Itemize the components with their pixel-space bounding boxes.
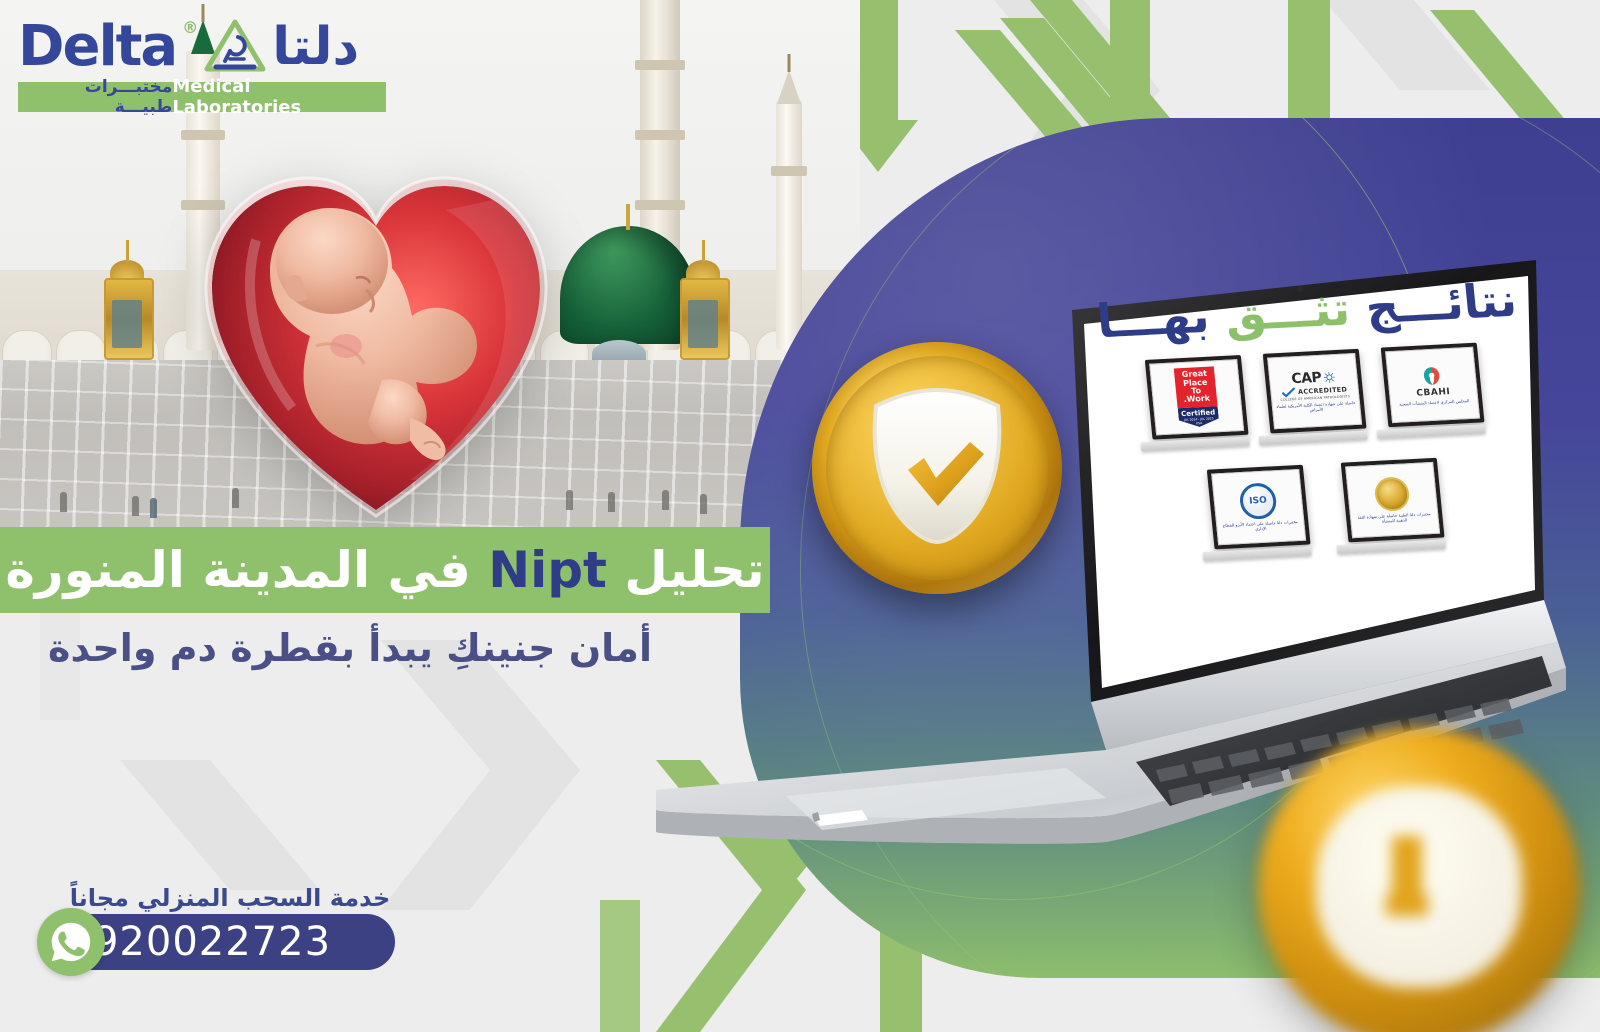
brand-tagline-en: Medical Laboratories [172, 76, 376, 118]
certificate-cbahi[interactable]: CBAHI المجلس المركزي لاعتماد المنشآت الص… [1381, 343, 1486, 439]
iso-label: ISO [1249, 496, 1267, 507]
certificates-row-1: CBAHI المجلس المركزي لاعتماد المنشآت الص… [1076, 339, 1555, 454]
whatsapp-icon[interactable] [37, 908, 105, 976]
iso-caption: مختبرات دلتا حاصلة على اعتماد الأيزو للق… [1217, 519, 1304, 533]
cap-caption: حاصلة على شهادة اعتماد الكلية الأمريكية … [1273, 400, 1360, 414]
iso-certified-icon: ISO [1238, 482, 1278, 520]
microscope-triangle-icon [204, 19, 266, 75]
trust-coin-secondary [1258, 728, 1580, 1032]
certificate-cap[interactable]: CAP ACCREDITED COLLEGE OF AMERICAN PATHO… [1263, 349, 1368, 445]
headline-prefix: تحليل [624, 541, 764, 599]
phone-number: 920022723 [93, 919, 367, 965]
cbahi-caption: المجلس المركزي لاعتماد المنشآت الصحية [1396, 398, 1473, 407]
certificate-iso[interactable]: ISO مختبرات دلتا حاصلة على اعتماد الأيزو… [1207, 465, 1312, 561]
subheadline: أمان جنينكِ يبدأ بقطرة دم واحدة [48, 629, 652, 667]
great-place-to-work-badge: Great Place To Work. Certified JUL 2024 … [1174, 367, 1220, 428]
gold-medal-caption: مختبرات دلتا الطبية حاصلة على شهادة الثق… [1351, 511, 1438, 525]
cap-label: CAP [1291, 370, 1322, 387]
brand-tagline-ar: مختبـــرات طبيـــة [28, 77, 172, 117]
brand-logo[interactable]: Delta ® دلتا Medical Laboratories مختبــ… [18, 14, 386, 112]
screen-headline-part-1: نتائـــج [1363, 273, 1519, 335]
cbahi-label: CBAHI [1416, 387, 1451, 399]
gold-medal-icon [1373, 476, 1410, 512]
screen-headline-part-2: تثـــق [1222, 281, 1352, 341]
service-label: خدمة السحب المنزلي مجاناً [65, 886, 395, 910]
cap-emblem-icon [1323, 371, 1336, 384]
screen-headline: نتائـــج تثـــق بهـــا [1070, 275, 1544, 345]
phone-pill[interactable]: 920022723 [65, 914, 395, 970]
advertisement-canvas: نتائـــج تثـــق بهـــا CBAHI المجلس المر… [0, 0, 1600, 1032]
trust-coin-primary [812, 342, 1062, 594]
certificates-row-2: مختبرات دلتا الطبية حاصلة على شهادة الثق… [1087, 451, 1566, 566]
headline-band: تحليل Nipt في المدينة المنورة [0, 527, 770, 613]
screen-headline-part-3: بهـــا [1094, 289, 1211, 349]
headline-accent: Nipt [488, 541, 607, 599]
brand-name-ar: دلتا [272, 21, 359, 73]
fetus-in-heart-illustration [196, 150, 556, 530]
certificate-gold-medal[interactable]: مختبرات دلتا الطبية حاصلة على شهادة الثق… [1341, 458, 1446, 554]
registered-mark-icon: ® [182, 18, 198, 37]
certificate-great-place-to-work[interactable]: Great Place To Work. Certified JUL 2024 … [1145, 355, 1250, 451]
subheadline-wrap: أمان جنينكِ يبدأ بقطرة دم واحدة [0, 618, 700, 678]
headline-suffix: في المدينة المنورة [5, 541, 470, 599]
contact-block: خدمة السحب المنزلي مجاناً 920022723 [30, 886, 430, 996]
laptop-screen-content: نتائـــج تثـــق بهـــا CBAHI المجلس المر… [1068, 259, 1576, 672]
gold-coin-shield-check-icon [864, 386, 1010, 546]
cbahi-logo-icon [1420, 364, 1444, 387]
page-title: تحليل Nipt في المدينة المنورة [5, 545, 764, 595]
gptw-line-4: Work. [1183, 394, 1210, 404]
brand-name-en: Delta [18, 19, 176, 75]
